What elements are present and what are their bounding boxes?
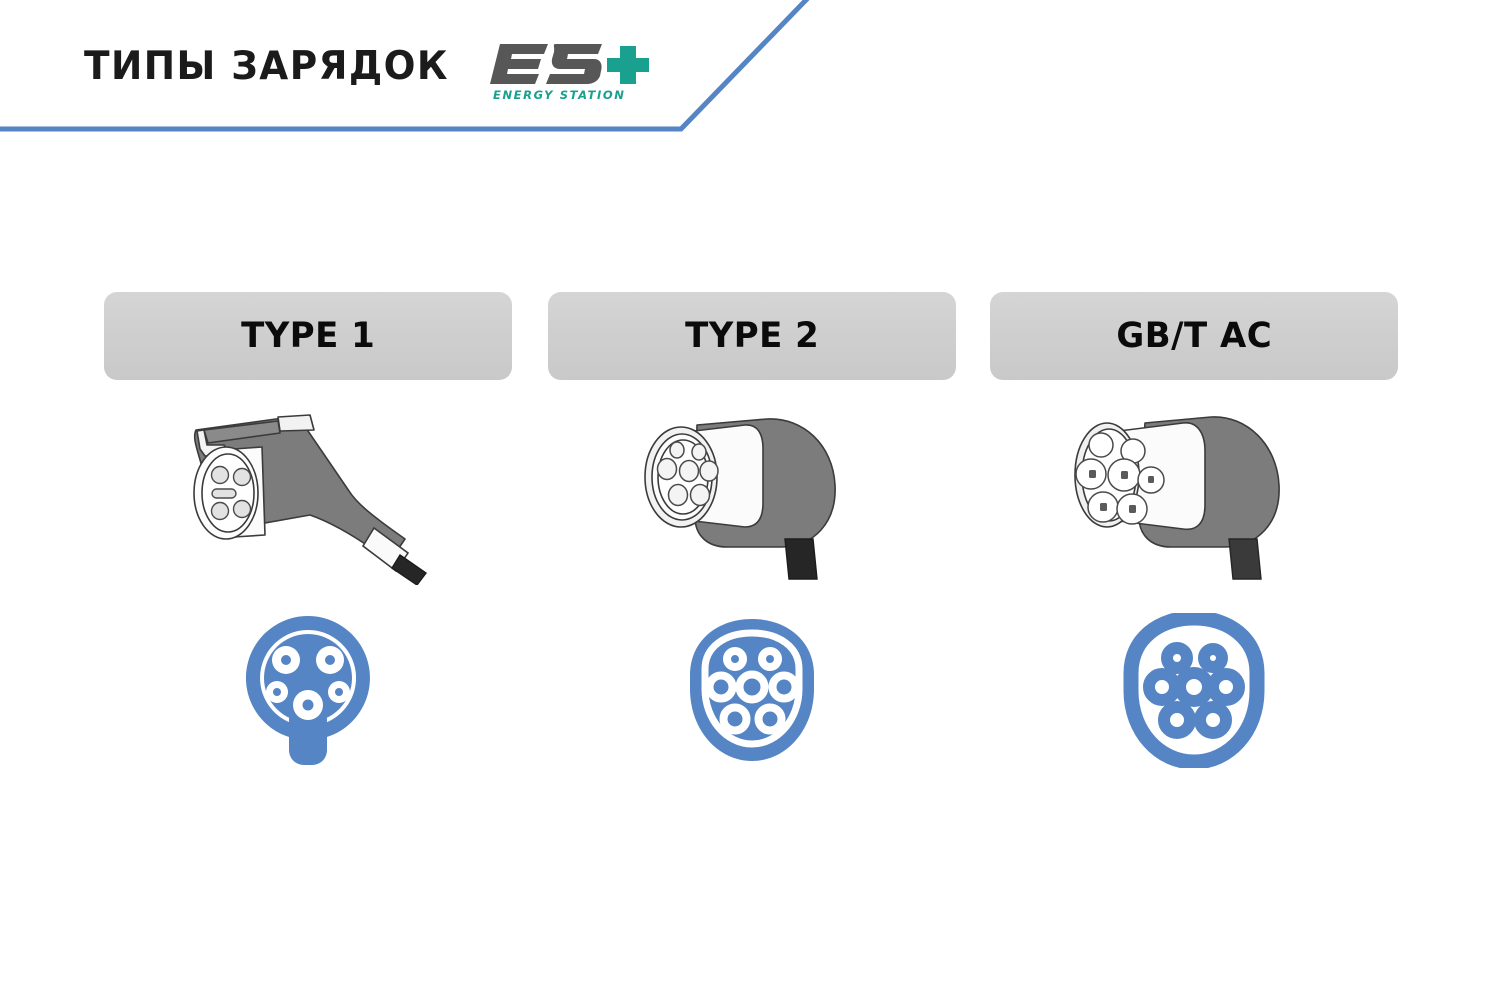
- gbt-ac-plug-icon: [1059, 407, 1329, 582]
- type-card-label: TYPE 1: [241, 316, 375, 356]
- plug-image-wrap-type-2: [548, 402, 956, 587]
- type-card-label: GB/T AC: [1116, 316, 1272, 356]
- type2-socket-icon: [677, 613, 827, 768]
- plug-image-wrap-type-1: [104, 402, 512, 587]
- socket-icon-wrap-type-1: [104, 605, 512, 775]
- connector-column-type-1: TYPE 1: [104, 292, 512, 775]
- type-card-type-2[interactable]: TYPE 2: [548, 292, 956, 380]
- logo-tagline: ENERGY STATION: [493, 88, 653, 102]
- type2-plug-icon: [617, 407, 887, 582]
- type-card-type-1[interactable]: TYPE 1: [104, 292, 512, 380]
- socket-icon-wrap-type-2: [548, 605, 956, 775]
- brand-logo: ENERGY STATION: [490, 38, 650, 110]
- es-plus-logo-mark: [490, 38, 650, 90]
- type-card-label: TYPE 2: [685, 316, 819, 356]
- connector-column-type-2: TYPE 2: [548, 292, 956, 775]
- connector-columns: TYPE 1: [0, 292, 1500, 812]
- type1-plug-icon: [158, 405, 458, 585]
- page-title: ТИПЫ ЗАРЯДОК: [84, 44, 449, 89]
- socket-icon-wrap-gbt-ac: [990, 605, 1398, 775]
- type-card-gbt-ac[interactable]: GB/T AC: [990, 292, 1398, 380]
- gbt-ac-socket-icon: [1118, 613, 1270, 768]
- connector-column-gbt-ac: GB/T AC: [990, 292, 1398, 775]
- type1-socket-icon: [233, 610, 383, 770]
- page-header: ТИПЫ ЗАРЯДОК ENERGY STATION: [0, 0, 1500, 150]
- plug-image-wrap-gbt-ac: [990, 402, 1398, 587]
